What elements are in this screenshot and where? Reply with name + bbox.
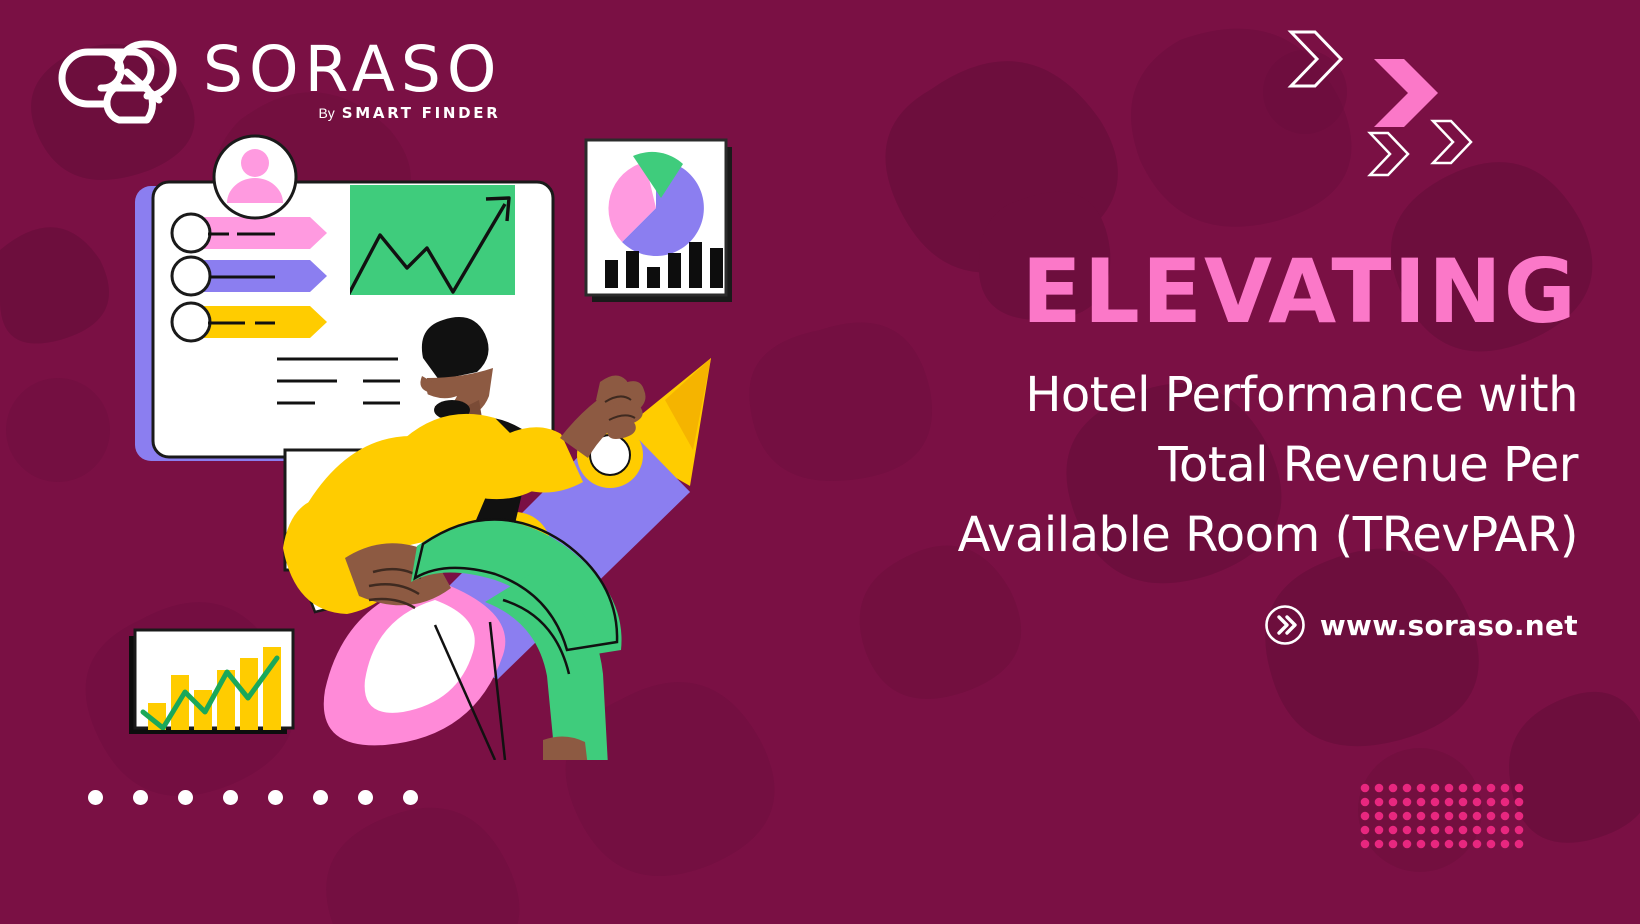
dot: [223, 790, 238, 805]
decorative-dot-row: [88, 790, 418, 805]
dot: [178, 790, 193, 805]
dot: [313, 790, 328, 805]
chevron-outline-lower-left-icon: [1365, 130, 1413, 178]
dot: [88, 790, 103, 805]
hero-subhead: Hotel Performance with Total Revenue Per…: [858, 360, 1578, 570]
brand-tagline-by: By: [318, 105, 334, 121]
soraso-loop-monogram-icon: [55, 38, 187, 124]
hero-text-column: ELEVATING Hotel Performance with Total R…: [858, 248, 1578, 646]
subhead-line-1: Hotel Performance with: [858, 360, 1578, 430]
green-growth-chart: [343, 185, 515, 305]
pie-and-bar-report-card: [586, 140, 732, 302]
dot: [133, 790, 148, 805]
website-link[interactable]: www.soraso.net: [858, 604, 1578, 646]
hero-illustration: [105, 120, 785, 760]
brand-logo[interactable]: SORASO By SMART FINDER: [55, 38, 502, 124]
subhead-line-2: Total Revenue Per: [858, 430, 1578, 500]
brand-name: SORASO: [203, 40, 502, 100]
dot: [358, 790, 373, 805]
marketing-banner: SORASO By SMART FINDER: [0, 0, 1640, 924]
dot: [268, 790, 283, 805]
dashboard-list-rows: [172, 214, 327, 341]
circled-double-chevron-right-icon: [1264, 604, 1306, 646]
dot: [403, 790, 418, 805]
user-avatar-icon: [214, 136, 296, 218]
chevron-outline-lower-right-icon: [1428, 118, 1476, 166]
subhead-line-3: Available Room (TRevPAR): [858, 500, 1578, 570]
decorative-pink-dot-grid: [1360, 782, 1530, 854]
mini-bar-chart-card: [129, 630, 293, 734]
page-title: ELEVATING: [858, 248, 1578, 336]
website-url: www.soraso.net: [1320, 609, 1578, 642]
brand-tagline-name: SMART FINDER: [342, 104, 501, 122]
chevron-outline-top-icon: [1285, 28, 1347, 90]
